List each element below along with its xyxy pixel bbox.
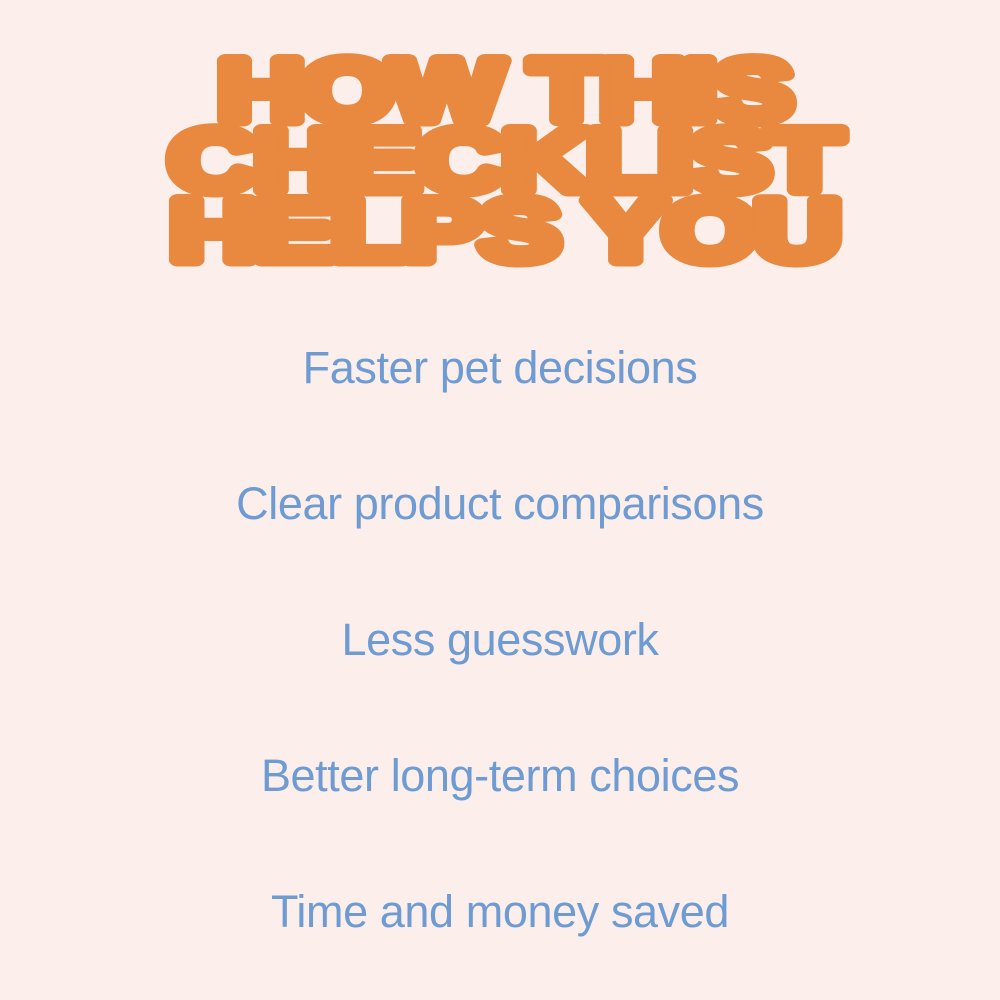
headline-line-3: HELPS YOU	[170, 183, 838, 272]
benefit-item: Time and money saved	[0, 844, 1000, 980]
headline-block: HOW THIS CHECKLIST HELPS YOU	[0, 46, 1000, 272]
benefit-item: Faster pet decisions	[0, 300, 1000, 436]
benefit-item: Better long-term choices	[0, 708, 1000, 844]
benefits-list: Faster pet decisions Clear product compa…	[0, 300, 1000, 940]
benefit-item: Less guesswork	[0, 572, 1000, 708]
benefit-item: Clear product comparisons	[0, 436, 1000, 572]
headline-svg: HOW THIS CHECKLIST HELPS YOU	[0, 46, 1000, 272]
poster-canvas: HOW THIS CHECKLIST HELPS YOU Faster pet …	[0, 0, 1000, 1000]
